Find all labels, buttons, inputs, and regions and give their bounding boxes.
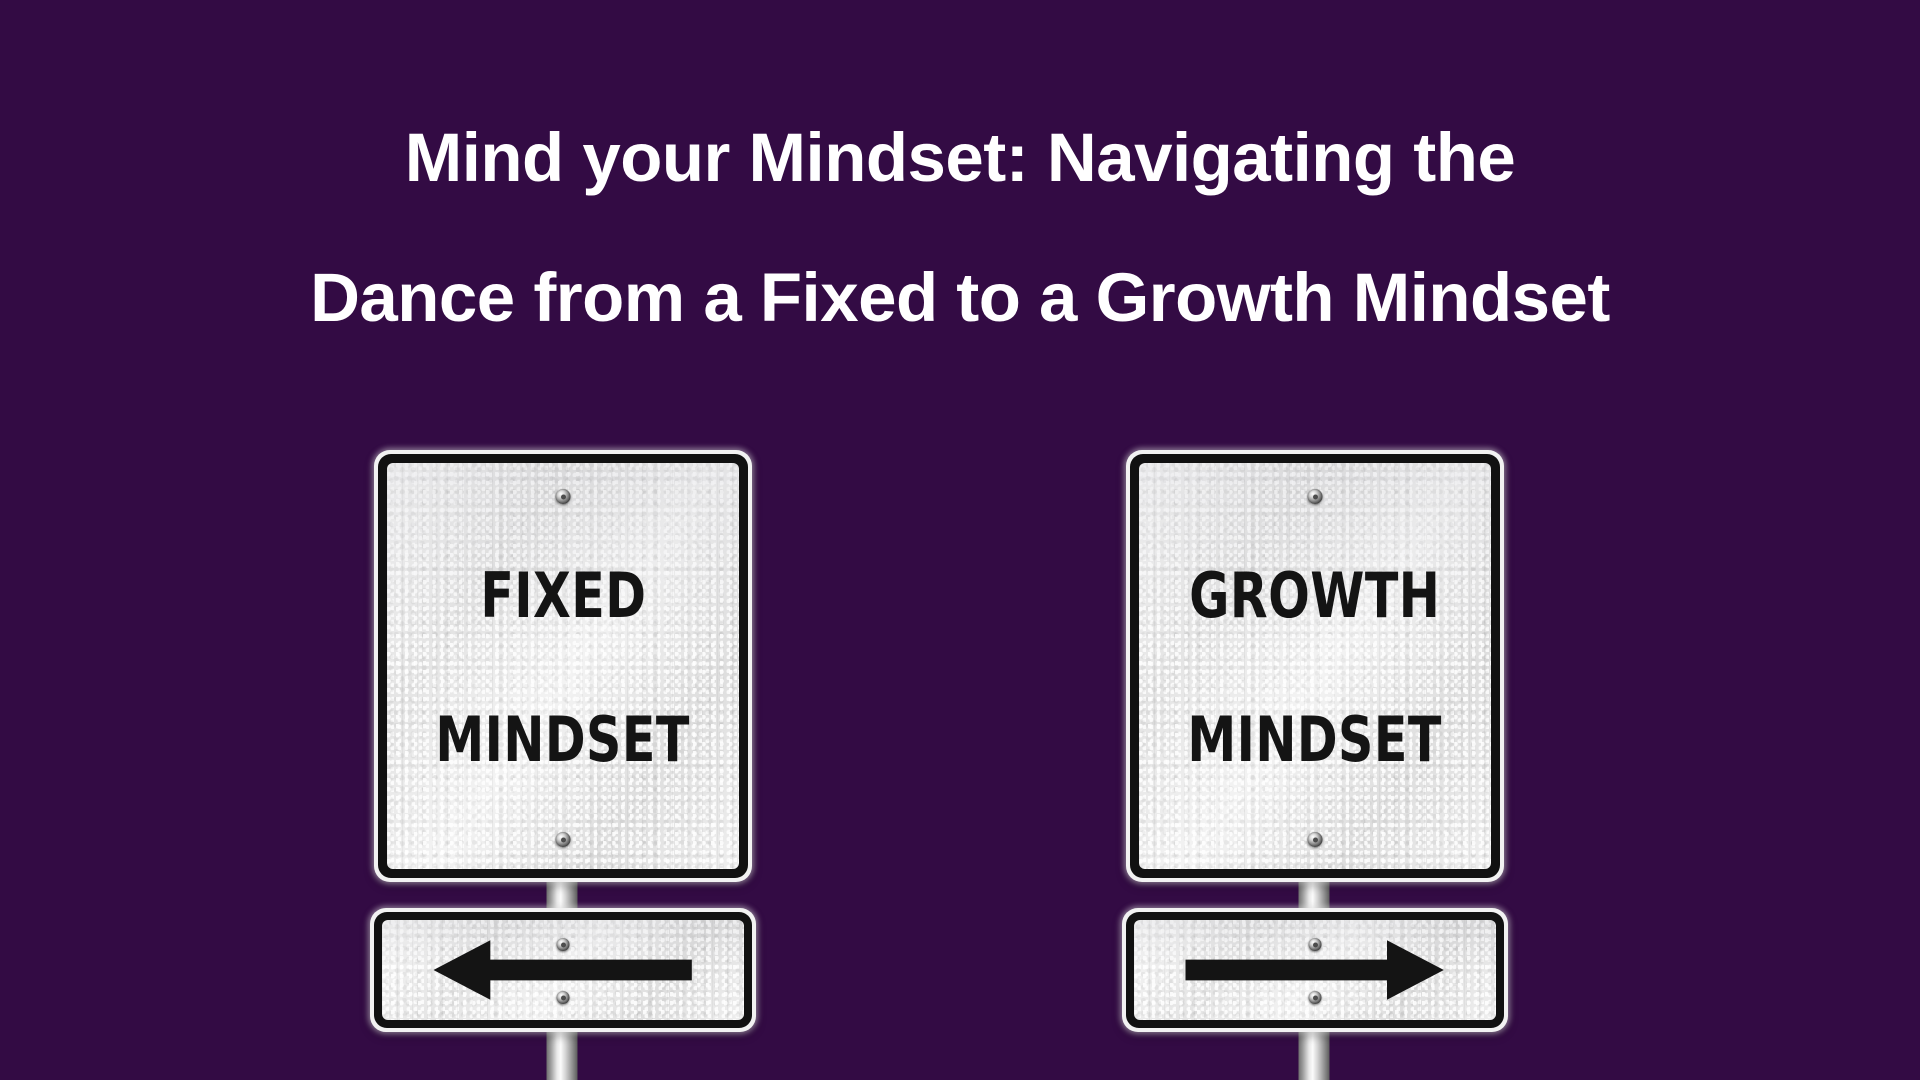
title-line-1: Mind your Mindset: Navigating the bbox=[40, 88, 1880, 228]
sign-plate-face bbox=[1134, 920, 1496, 1020]
rivet-icon bbox=[557, 991, 570, 1004]
sign-plate-face: GROWTH MINDSET bbox=[1139, 463, 1491, 869]
sign-group-growth-mindset: GROWTH MINDSET bbox=[1104, 440, 1524, 1080]
sign-plate-face: FIXED MINDSET bbox=[387, 463, 739, 869]
sign-word-bottom: MINDSET bbox=[1188, 709, 1442, 771]
page-title: Mind your Mindset: Navigating the Dance … bbox=[0, 88, 1920, 368]
sign-group-fixed-mindset: FIXED MINDSET bbox=[352, 440, 772, 1080]
sign-plate-face bbox=[382, 920, 744, 1020]
title-line-2: Dance from a Fixed to a Growth Mindset bbox=[40, 228, 1880, 368]
rivet-icon bbox=[1308, 832, 1323, 847]
rivet-icon bbox=[1308, 489, 1323, 504]
rivet-icon bbox=[1309, 938, 1322, 951]
sign-plate-border bbox=[1126, 912, 1504, 1028]
sign-word-top: FIXED bbox=[480, 565, 646, 627]
signs-area: FIXED MINDSET bbox=[0, 440, 1920, 1080]
sign-word-top: GROWTH bbox=[1189, 565, 1440, 627]
rivet-icon bbox=[1309, 991, 1322, 1004]
sign-plate-arrow-right bbox=[1122, 908, 1508, 1032]
sign-plate-growth-mindset: GROWTH MINDSET bbox=[1126, 450, 1504, 882]
sign-plate-border bbox=[374, 912, 752, 1028]
sign-plate-border: FIXED MINDSET bbox=[378, 454, 748, 878]
sign-word-bottom: MINDSET bbox=[436, 709, 690, 771]
sign-plate-fixed-mindset: FIXED MINDSET bbox=[374, 450, 752, 882]
slide-canvas: Mind your Mindset: Navigating the Dance … bbox=[0, 0, 1920, 1080]
rivet-icon bbox=[556, 832, 571, 847]
sign-plate-border: GROWTH MINDSET bbox=[1130, 454, 1500, 878]
sign-plate-arrow-left bbox=[370, 908, 756, 1032]
rivet-icon bbox=[557, 938, 570, 951]
rivet-icon bbox=[556, 489, 571, 504]
